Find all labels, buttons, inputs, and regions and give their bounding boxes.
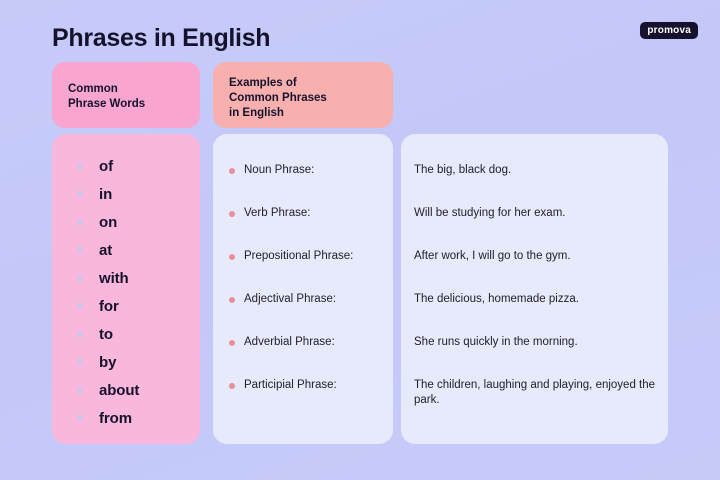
- phrase-word-label: of: [99, 158, 113, 175]
- bullet-dot-icon: [229, 254, 235, 260]
- phrase-type-label: Noun Phrase:: [244, 163, 314, 178]
- bullet-dot-icon: [77, 275, 83, 281]
- phrase-types-card: Noun Phrase:Verb Phrase:Prepositional Ph…: [213, 134, 393, 444]
- phrase-example-item: The delicious, homemade pizza.: [401, 292, 668, 335]
- phrase-word-item: on: [52, 208, 200, 236]
- phrase-type-label: Adjectival Phrase:: [244, 292, 336, 307]
- column-header-examples-of-common-phrases: Examples ofCommon Phrasesin English: [213, 62, 393, 128]
- column-header-common-phrase-words: CommonPhrase Words: [52, 62, 200, 128]
- phrase-type-label: Verb Phrase:: [244, 206, 310, 221]
- common-phrase-words-list: ofinonatwithfortobyaboutfrom: [52, 152, 200, 432]
- phrase-word-label: on: [99, 214, 117, 231]
- phrase-type-item: Prepositional Phrase:: [213, 249, 393, 292]
- phrase-word-label: from: [99, 410, 132, 427]
- phrase-type-item: Noun Phrase:: [213, 163, 393, 206]
- bullet-dot-icon: [77, 359, 83, 365]
- phrase-example-item: The children, laughing and playing, enjo…: [401, 378, 668, 421]
- phrase-word-label: with: [99, 270, 129, 287]
- phrase-example-item: She runs quickly in the morning.: [401, 335, 668, 378]
- phrase-word-item: from: [52, 404, 200, 432]
- bullet-dot-icon: [77, 415, 83, 421]
- phrase-word-item: of: [52, 152, 200, 180]
- phrase-word-label: for: [99, 298, 119, 315]
- bullet-dot-icon: [77, 331, 83, 337]
- bullet-dot-icon: [77, 191, 83, 197]
- phrase-word-item: with: [52, 264, 200, 292]
- phrase-word-item: in: [52, 180, 200, 208]
- bullet-dot-icon: [229, 168, 235, 174]
- bullet-dot-icon: [229, 383, 235, 389]
- promova-logo: promova: [640, 22, 698, 39]
- phrase-word-label: by: [99, 354, 116, 371]
- phrase-type-label: Adverbial Phrase:: [244, 335, 335, 350]
- phrase-word-label: at: [99, 242, 112, 259]
- phrase-word-label: in: [99, 186, 112, 203]
- phrase-type-item: Adjectival Phrase:: [213, 292, 393, 335]
- phrase-word-item: at: [52, 236, 200, 264]
- bullet-dot-icon: [229, 211, 235, 217]
- phrase-type-item: Adverbial Phrase:: [213, 335, 393, 378]
- phrase-word-label: about: [99, 382, 139, 399]
- bullet-dot-icon: [77, 303, 83, 309]
- phrase-type-label: Participial Phrase:: [244, 378, 337, 393]
- phrase-type-item: Participial Phrase:: [213, 378, 393, 421]
- phrase-type-item: Verb Phrase:: [213, 206, 393, 249]
- bullet-dot-icon: [77, 247, 83, 253]
- phrase-word-item: about: [52, 376, 200, 404]
- phrase-examples-card: The big, black dog.Will be studying for …: [401, 134, 668, 444]
- common-phrase-words-card: ofinonatwithfortobyaboutfrom: [52, 134, 200, 444]
- infographic-canvas: Phrases in English promova CommonPhrase …: [0, 0, 720, 480]
- phrase-example-item: The big, black dog.: [401, 163, 668, 206]
- bullet-dot-icon: [77, 219, 83, 225]
- bullet-dot-icon: [229, 340, 235, 346]
- phrase-word-item: to: [52, 320, 200, 348]
- phrase-example-item: After work, I will go to the gym.: [401, 249, 668, 292]
- bullet-dot-icon: [229, 297, 235, 303]
- phrase-word-label: to: [99, 326, 113, 343]
- phrase-examples-list: The big, black dog.Will be studying for …: [401, 134, 668, 421]
- phrase-type-label: Prepositional Phrase:: [244, 249, 353, 264]
- phrase-example-item: Will be studying for her exam.: [401, 206, 668, 249]
- bullet-dot-icon: [77, 163, 83, 169]
- phrase-types-list: Noun Phrase:Verb Phrase:Prepositional Ph…: [213, 134, 393, 421]
- page-title: Phrases in English: [52, 24, 270, 53]
- phrase-word-item: for: [52, 292, 200, 320]
- bullet-dot-icon: [77, 387, 83, 393]
- phrase-word-item: by: [52, 348, 200, 376]
